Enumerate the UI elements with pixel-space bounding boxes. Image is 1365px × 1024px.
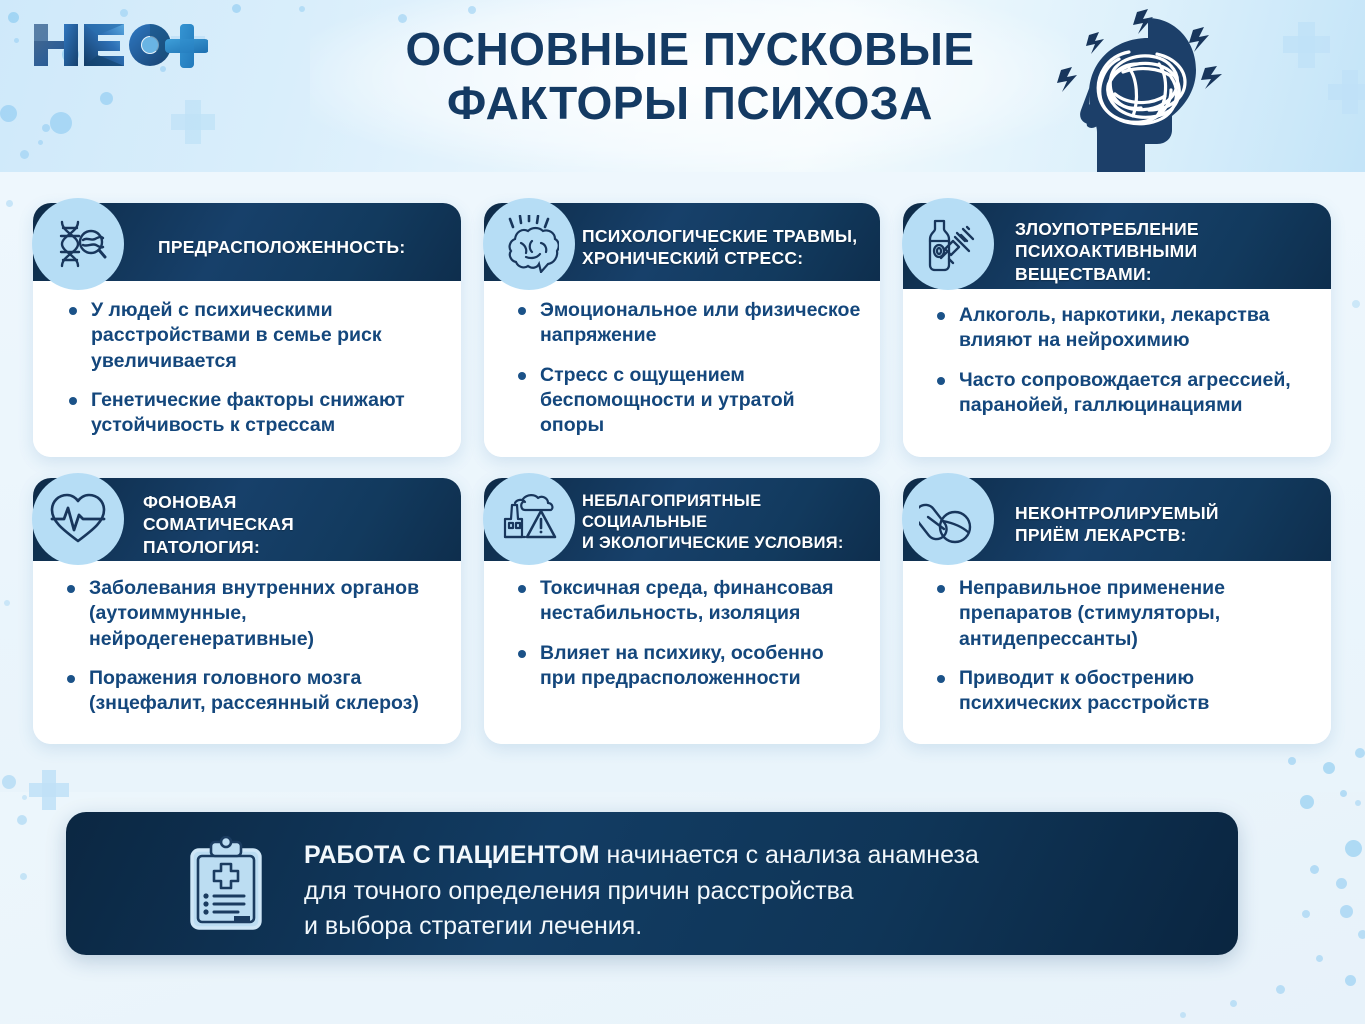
medical-clipboard-icon xyxy=(178,836,274,932)
card-uncontrolled-medication[interactable]: НЕКОНТРОЛИРУЕМЫЙ ПРИЁМ ЛЕКАРСТВ: Неправи… xyxy=(903,478,1331,744)
decor-dot xyxy=(468,6,476,14)
head-with-tangled-thoughts-icon xyxy=(1045,2,1245,172)
decor-dot xyxy=(1355,748,1365,758)
decor-dot xyxy=(1180,1012,1186,1018)
decor-dot xyxy=(1323,762,1335,774)
banner-line-2: для точного определения причин расстройс… xyxy=(304,874,1208,910)
card-bullets: Неправильное применение препаратов (стим… xyxy=(935,576,1313,731)
card-predisposition[interactable]: ПРЕДРАСПОЛОЖЕННОСТЬ: У людей с психическ… xyxy=(33,203,461,457)
dna-microscope-icon xyxy=(32,198,124,290)
list-item: Часто сопровождается агрессией, паранойе… xyxy=(935,368,1313,419)
decor-dot xyxy=(20,150,29,159)
decor-dot xyxy=(1345,840,1362,857)
decor-dot xyxy=(1358,930,1365,939)
card-trauma-stress[interactable]: ПСИХОЛОГИЧЕСКИЕ ТРАВМЫ, ХРОНИЧЕСКИЙ СТРЕ… xyxy=(484,203,880,457)
header: ОСНОВНЫЕ ПУСКОВЫЕ ФАКТОРЫ ПСИХОЗА xyxy=(0,0,1365,172)
card-somatic-pathology[interactable]: ФОНОВАЯ СОМАТИЧЕСКАЯ ПАТОЛОГИЯ: Заболева… xyxy=(33,478,461,744)
decor-dot xyxy=(4,600,10,606)
decor-dot xyxy=(1352,300,1360,308)
card-bullets: У людей с психическими расстройствами в … xyxy=(67,298,443,453)
list-item: Токсичная среда, финансовая нестабильнос… xyxy=(516,576,862,627)
decor-dot xyxy=(38,140,43,145)
decor-dot xyxy=(100,92,113,105)
decor-dot xyxy=(1340,905,1353,918)
list-item: Заболевания внутренних органов (аутоимму… xyxy=(65,576,443,652)
decor-plus xyxy=(1328,84,1365,100)
decor-dot xyxy=(8,12,19,23)
card-title: НЕКОНТРОЛИРУЕМЫЙ ПРИЁМ ЛЕКАРСТВ: xyxy=(1015,502,1315,547)
decor-dot xyxy=(1276,985,1285,994)
stressed-brain-icon xyxy=(483,198,575,290)
card-title: НЕБЛАГОПРИЯТНЫЕ СОЦИАЛЬНЫЕ И ЭКОЛОГИЧЕСК… xyxy=(582,491,874,554)
card-bullets: Токсичная среда, финансовая нестабильнос… xyxy=(516,576,862,705)
title-line-1: ОСНОВНЫЕ ПУСКОВЫЕ xyxy=(405,23,974,75)
list-item: Неправильное применение препаратов (стим… xyxy=(935,576,1313,652)
banner-line-1: РАБОТА С ПАЦИЕНТОМ начинается с анализа … xyxy=(304,838,1208,874)
list-item: Генетические факторы снижают устойчивост… xyxy=(67,388,443,439)
decor-dot xyxy=(50,112,72,134)
banner-rest: начинается с анализа анамнеза xyxy=(600,841,979,869)
banner-lead: РАБОТА С ПАЦИЕНТОМ xyxy=(304,841,600,869)
factory-warning-icon xyxy=(483,473,575,565)
list-item: Стресс с ощущением беспомощности и утрат… xyxy=(516,363,862,439)
list-item: Эмоциональное или физическое напряжение xyxy=(516,298,862,349)
decor-dot xyxy=(1288,757,1296,765)
card-title: ЗЛОУПОТРЕБЛЕНИЕ ПСИХОАКТИВНЫМИ ВЕЩЕСТВАМ… xyxy=(1015,218,1315,285)
decor-dot xyxy=(2,775,16,789)
decor-dot xyxy=(20,873,27,880)
decor-dot xyxy=(120,9,128,17)
decor-dot xyxy=(1340,790,1347,797)
decor-dot xyxy=(232,4,241,13)
decor-dot xyxy=(17,815,27,825)
pills-icon xyxy=(902,473,994,565)
decor-dot xyxy=(1336,878,1347,889)
card-title: ПРЕДРАСПОЛОЖЕННОСТЬ: xyxy=(158,236,448,258)
list-item: Алкоголь, наркотики, лекарства влияют на… xyxy=(935,303,1313,354)
card-bullets: Заболевания внутренних органов (аутоимму… xyxy=(65,576,443,731)
banner-line-3: и выбора стратегии лечения. xyxy=(304,909,1208,945)
decor-dot xyxy=(0,105,17,122)
list-item: Влияет на психику, особенно при предрасп… xyxy=(516,641,862,692)
decor-plus xyxy=(29,783,69,797)
summary-banner[interactable]: РАБОТА С ПАЦИЕНТОМ начинается с анализа … xyxy=(66,812,1238,955)
decor-dot xyxy=(1310,865,1319,874)
card-substance-abuse[interactable]: ЗЛОУПОТРЕБЛЕНИЕ ПСИХОАКТИВНЫМИ ВЕЩЕСТВАМ… xyxy=(903,203,1331,457)
decor-dot xyxy=(42,124,50,132)
neo-plus-logo[interactable] xyxy=(28,18,208,78)
decor-dot xyxy=(1345,975,1356,986)
infographic-root: ОСНОВНЫЕ ПУСКОВЫЕ ФАКТОРЫ ПСИХОЗА xyxy=(0,0,1365,1024)
banner-text: РАБОТА С ПАЦИЕНТОМ начинается с анализа … xyxy=(304,838,1208,945)
decor-dot xyxy=(1355,800,1361,806)
card-title: ФОНОВАЯ СОМАТИЧЕСКАЯ ПАТОЛОГИЯ: xyxy=(143,491,443,558)
card-bullets: Эмоциональное или физическое напряжение … xyxy=(516,298,862,453)
title-line-2: ФАКТОРЫ ПСИХОЗА xyxy=(290,76,1090,130)
decor-dot xyxy=(6,200,13,207)
list-item: Приводит к обострению психических расстр… xyxy=(935,666,1313,717)
bottle-syringe-icon xyxy=(902,198,994,290)
list-item: У людей с психическими расстройствами в … xyxy=(67,298,443,374)
decor-dot xyxy=(299,6,305,12)
decor-plus xyxy=(1283,36,1330,53)
decor-dot xyxy=(22,795,27,800)
card-title: ПСИХОЛОГИЧЕСКИЕ ТРАВМЫ, ХРОНИЧЕСКИЙ СТРЕ… xyxy=(582,225,872,270)
list-item: Поражения головного мозга (знцефалит, ра… xyxy=(65,666,443,717)
decor-plus xyxy=(171,114,215,130)
decor-dot xyxy=(14,38,19,43)
decor-dot xyxy=(1230,1000,1237,1007)
decor-dot xyxy=(1300,795,1314,809)
card-bullets: Алкоголь, наркотики, лекарства влияют на… xyxy=(935,303,1313,432)
page-title: ОСНОВНЫЕ ПУСКОВЫЕ ФАКТОРЫ ПСИХОЗА xyxy=(290,22,1090,131)
heart-pulse-icon xyxy=(32,473,124,565)
decor-dot xyxy=(1302,910,1310,918)
card-social-ecological[interactable]: НЕБЛАГОПРИЯТНЫЕ СОЦИАЛЬНЫЕ И ЭКОЛОГИЧЕСК… xyxy=(484,478,880,744)
decor-dot xyxy=(1316,955,1323,962)
